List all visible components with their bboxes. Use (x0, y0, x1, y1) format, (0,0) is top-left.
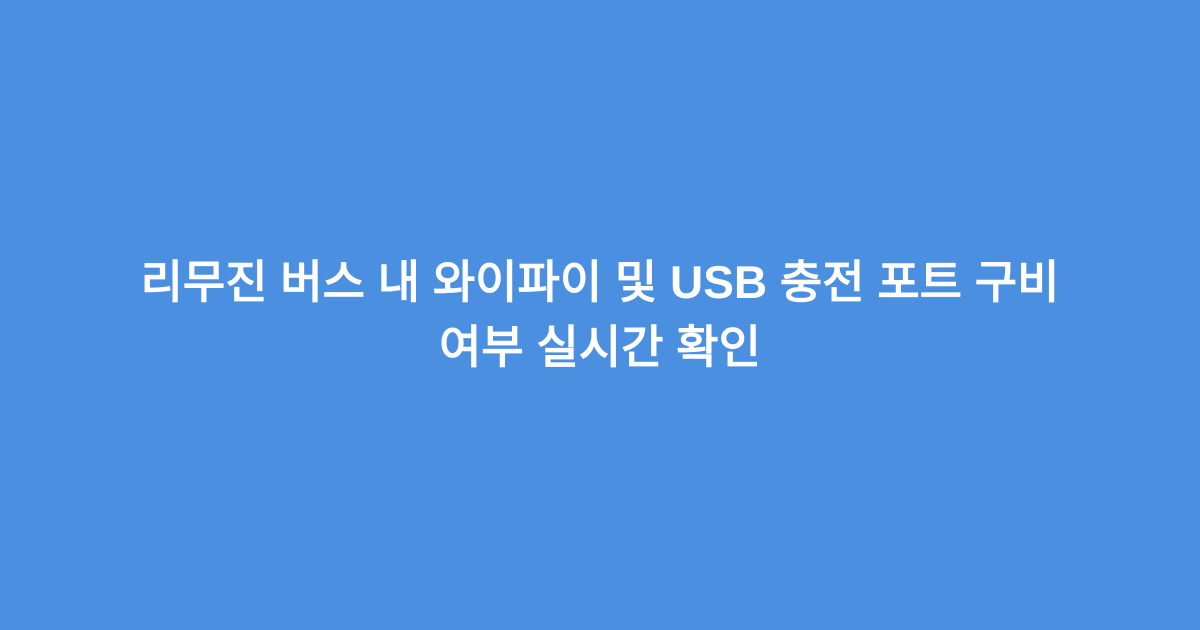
share-card: 리무진 버스 내 와이파이 및 USB 충전 포트 구비 여부 실시간 확인 (0, 0, 1200, 630)
page-title: 리무진 버스 내 와이파이 및 USB 충전 포트 구비 여부 실시간 확인 (93, 250, 1108, 380)
share-card-content: 리무진 버스 내 와이파이 및 USB 충전 포트 구비 여부 실시간 확인 (0, 250, 1200, 380)
